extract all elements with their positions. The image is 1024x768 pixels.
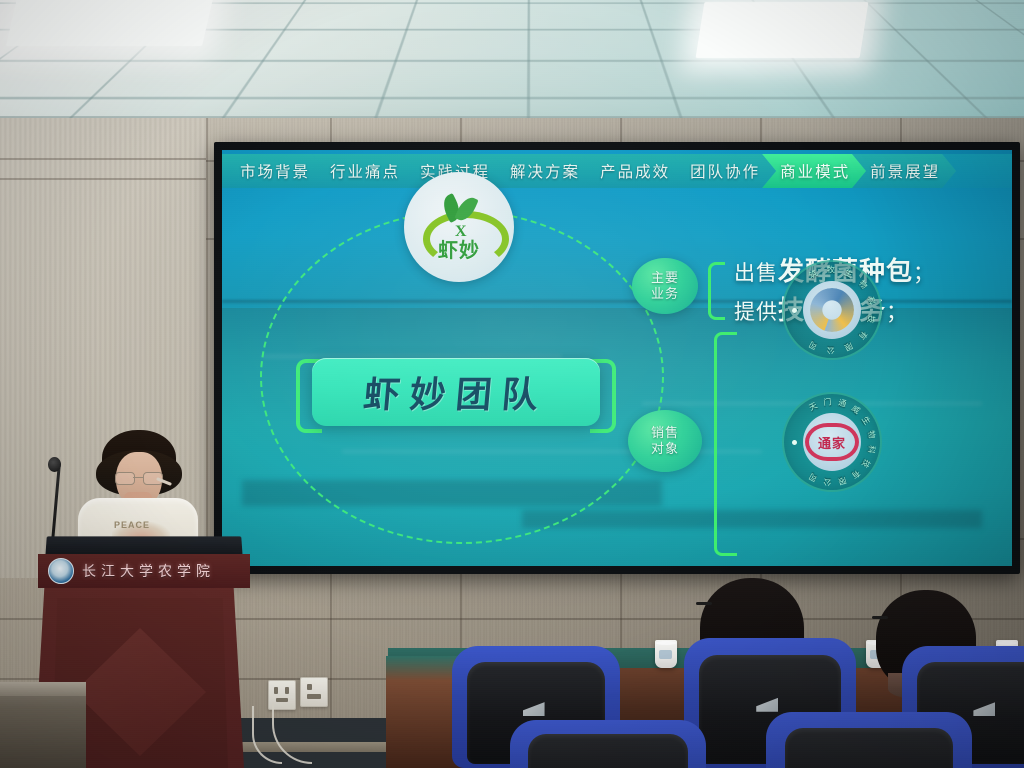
slide-nav-item-label: 前景展望 — [870, 160, 940, 182]
logo-x-mark: X — [455, 223, 467, 241]
presenter-shirt-print-text: PEACE — [114, 520, 150, 530]
sales-blob-line2: 对象 — [651, 441, 679, 457]
slide-nav-item-label: 解决方案 — [510, 160, 580, 182]
slide-nav-item-8[interactable]: 前景展望 — [852, 154, 956, 188]
sales-target-blob: 销售 对象 — [628, 410, 702, 472]
slide-nav-item-label: 产品成效 — [600, 160, 670, 182]
mb-l1-suffix: ； — [913, 262, 935, 285]
auditorium-chair-4[interactable] — [510, 720, 706, 768]
lecture-hall-photo: 市场背景行业痛点实践过程解决方案产品成效团队协作商业模式前景展望 X 虾妙 虾妙… — [0, 0, 1024, 768]
company-badge-1: 筑牧生物科技有限公司 — [782, 260, 882, 360]
led-screen-bezel: 市场背景行业痛点实践过程解决方案产品成效团队协作商业模式前景展望 X 虾妙 虾妙… — [214, 142, 1020, 574]
main-business-brace — [708, 262, 725, 320]
team-title-box: 虾妙团队 — [312, 358, 600, 426]
slide-nav[interactable]: 市场背景行业痛点实践过程解决方案产品成效团队协作商业模式前景展望 — [222, 154, 1012, 194]
side-table-top — [0, 682, 86, 696]
team-title-text: 虾妙团队 — [362, 366, 551, 418]
slide-nav-item-2[interactable]: 行业痛点 — [312, 154, 416, 188]
main-business-blob-line1: 主要 — [651, 270, 679, 286]
slide-nav-item-label: 行业痛点 — [330, 160, 400, 182]
ceiling-panel-light-1 — [6, 0, 214, 46]
slide-nav-item-1[interactable]: 市场背景 — [222, 154, 326, 188]
slide-nav-item-label: 商业模式 — [780, 160, 850, 182]
main-business-blob: 主要 业务 — [632, 258, 698, 314]
slide-nav-item-4[interactable]: 解决方案 — [492, 154, 596, 188]
ceiling — [0, 0, 1024, 132]
university-seal-icon — [48, 558, 74, 584]
microphone-head-icon — [48, 457, 61, 472]
auditorium-chair-5[interactable] — [766, 712, 972, 768]
slide-nav-item-label: 团队协作 — [690, 160, 760, 182]
sales-target-brace — [714, 332, 737, 556]
company-2-name-ring: 天门通威生物科技有限公司 — [788, 398, 876, 486]
paper-cup-1[interactable] — [655, 640, 677, 668]
mb-l2-prefix: 提供 — [734, 301, 778, 324]
slide-nav-item-label: 市场背景 — [240, 160, 310, 182]
badge-2-dot — [792, 440, 797, 445]
slide-nav-item-7[interactable]: 商业模式 — [762, 154, 866, 188]
team-title-group: 虾妙团队 — [296, 358, 616, 426]
shrimp-brand-logo: X 虾妙 — [404, 172, 514, 282]
side-table — [0, 682, 86, 768]
logo-artwork: X — [417, 193, 501, 245]
slide-nav-item-6[interactable]: 团队协作 — [672, 154, 776, 188]
badge-1-dot — [792, 308, 797, 313]
slide-nav-item-5[interactable]: 产品成效 — [582, 154, 686, 188]
sales-blob-line1: 销售 — [651, 425, 679, 441]
podium-nameplate: 长江大学农学院 — [38, 554, 250, 588]
main-business-blob-line2: 业务 — [651, 286, 679, 302]
mb-l2-suffix: ； — [886, 301, 908, 324]
company-1-swirl-icon — [810, 288, 854, 332]
company-badge-2: 天门通威生物科技有限公司 通家 — [782, 392, 882, 492]
institution-name: 长江大学农学院 — [82, 561, 215, 581]
mb-l1-prefix: 出售 — [734, 262, 778, 285]
ceiling-panel-light-2 — [696, 2, 869, 58]
led-screen[interactable]: 市场背景行业痛点实践过程解决方案产品成效团队协作商业模式前景展望 X 虾妙 虾妙… — [222, 150, 1012, 566]
